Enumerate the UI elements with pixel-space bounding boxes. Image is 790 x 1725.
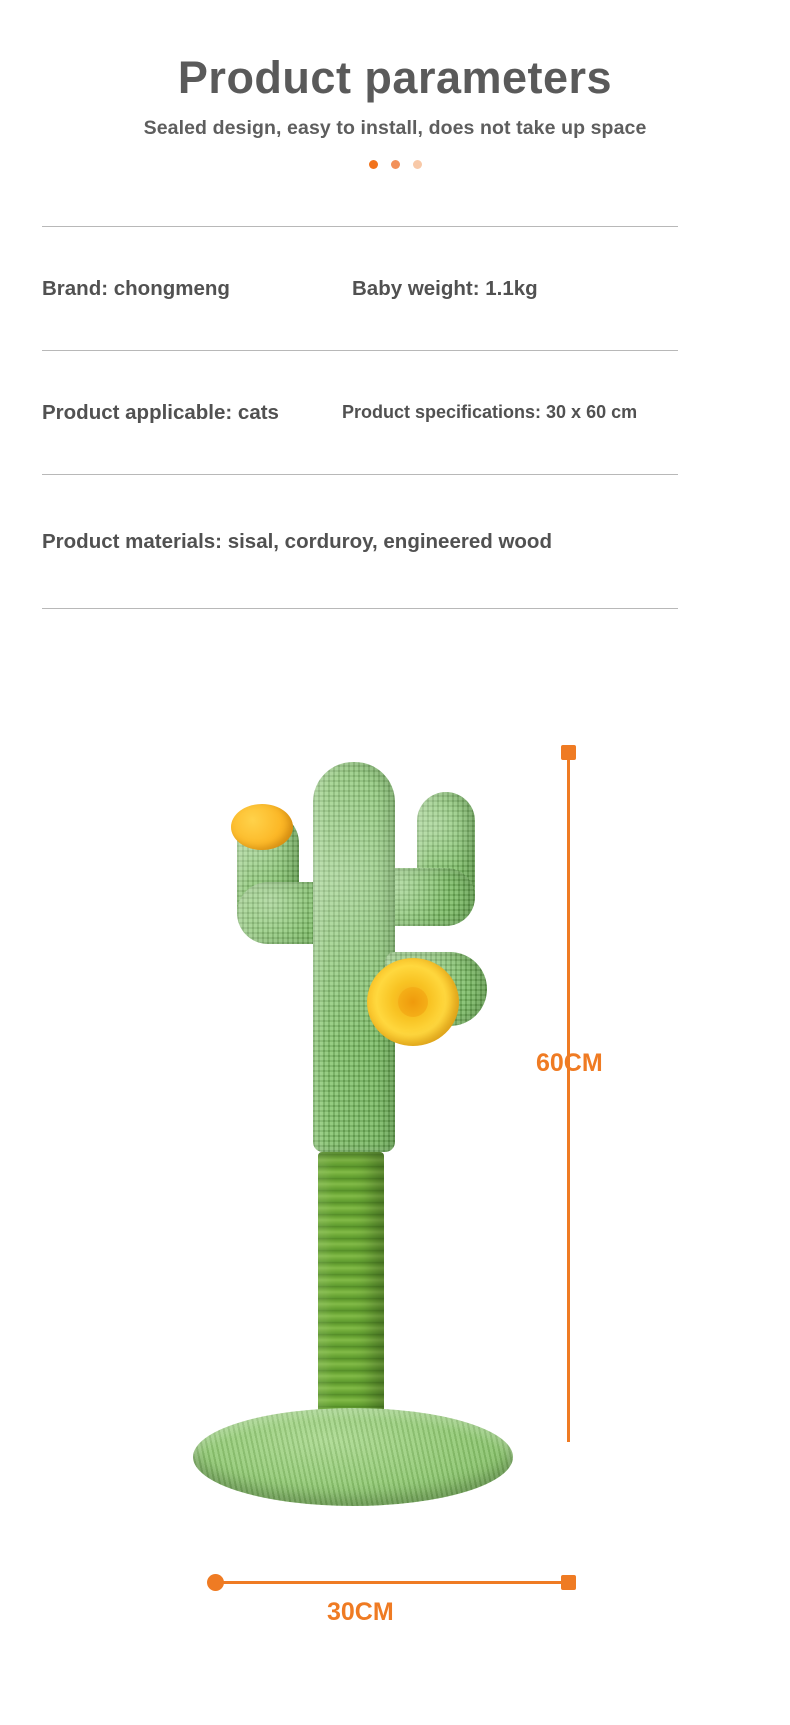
specifications-table: Brand: chongmeng Baby weight: 1.1kg Prod… (42, 226, 678, 609)
spec-row-applicable-specifications: Product applicable: cats Product specifi… (42, 351, 678, 474)
small-flower-icon (231, 804, 293, 850)
product-image-area: 60CM 30CM (0, 700, 790, 1725)
divider-bottom (42, 608, 678, 609)
height-dimension-line (567, 752, 570, 1442)
large-flower-icon (367, 958, 459, 1046)
sisal-scratching-post (318, 1152, 384, 1442)
spec-baby-weight: Baby weight: 1.1kg (352, 277, 538, 301)
spec-brand: Brand: chongmeng (42, 277, 352, 301)
height-dimension-endpoint-top (561, 745, 576, 760)
height-dimension-label: 60CM (536, 1049, 603, 1078)
spec-row-materials: Product materials: sisal, corduroy, engi… (42, 475, 678, 608)
carousel-dots (0, 160, 790, 169)
product-base-disc (193, 1408, 513, 1506)
carousel-dot-2[interactable] (391, 160, 400, 169)
spec-product-materials: Product materials: sisal, corduroy, engi… (42, 530, 552, 554)
carousel-dot-3[interactable] (413, 160, 422, 169)
carousel-dot-1[interactable] (369, 160, 378, 169)
page-subtitle: Sealed design, easy to install, does not… (0, 117, 790, 140)
product-parameters-page: Product parameters Sealed design, easy t… (0, 0, 790, 1725)
page-header: Product parameters Sealed design, easy t… (0, 52, 790, 169)
width-dimension-line (216, 1581, 569, 1584)
spec-row-brand-weight: Brand: chongmeng Baby weight: 1.1kg (42, 227, 678, 350)
width-dimension-endpoint-left (207, 1574, 224, 1591)
cactus-trunk (313, 762, 395, 1152)
spec-product-applicable: Product applicable: cats (42, 401, 342, 425)
page-title: Product parameters (0, 52, 790, 104)
width-dimension-label: 30CM (327, 1598, 394, 1627)
spec-product-specifications: Product specifications: 30 x 60 cm (342, 402, 637, 423)
